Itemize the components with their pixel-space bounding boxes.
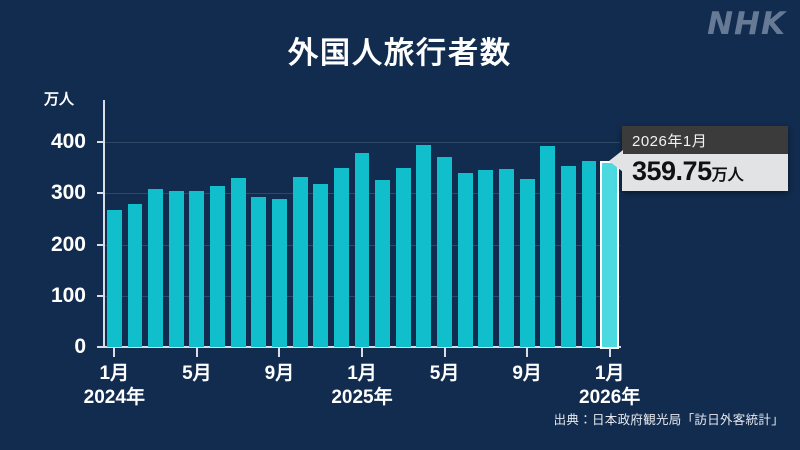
x-tick-label: 5月 <box>182 358 212 385</box>
bar[interactable] <box>520 179 535 347</box>
bar[interactable] <box>437 157 452 347</box>
x-tick-mark <box>113 348 115 357</box>
bar[interactable] <box>416 145 431 347</box>
bar[interactable] <box>107 210 122 347</box>
x-tick-mark <box>526 348 528 357</box>
x-tick-label: 1月 <box>100 358 130 385</box>
bar[interactable] <box>375 180 390 347</box>
bar-series <box>104 100 620 347</box>
bar[interactable] <box>272 199 287 347</box>
x-tick-year-label: 2024年 <box>84 382 145 409</box>
tooltip-arrow-icon <box>609 150 623 172</box>
y-axis-unit-label: 万人 <box>44 88 74 109</box>
x-tick-label: 1月 <box>595 358 625 385</box>
bar[interactable] <box>189 191 204 347</box>
bar[interactable] <box>148 189 163 347</box>
x-tick-label: 5月 <box>430 358 460 385</box>
tooltip-value-row: 359.75万人 <box>622 154 788 191</box>
y-tick-label: 300 <box>34 181 86 205</box>
page-title: 外国人旅行者数 <box>0 28 800 72</box>
y-tick-label: 0 <box>34 335 86 359</box>
bar[interactable] <box>169 191 184 347</box>
bar[interactable] <box>458 173 473 347</box>
x-tick-mark <box>444 348 446 357</box>
source-attribution: 出典：日本政府観光局「訪日外客統計」 <box>554 409 784 428</box>
x-tick-mark <box>361 348 363 357</box>
bar[interactable] <box>293 177 308 347</box>
x-tick-label: 9月 <box>265 358 295 385</box>
bar[interactable] <box>540 146 555 347</box>
tooltip-period: 2026年1月 <box>622 126 788 154</box>
bar[interactable] <box>210 186 225 347</box>
bar[interactable] <box>499 169 514 347</box>
tooltip-value: 359.75 <box>632 156 712 186</box>
x-tick-mark <box>609 348 611 357</box>
x-tick-year-label: 2026年 <box>579 382 640 409</box>
bar-highlighted[interactable] <box>602 163 617 347</box>
tooltip-unit: 万人 <box>712 167 744 184</box>
bar[interactable] <box>313 184 328 347</box>
bar[interactable] <box>582 161 597 347</box>
x-tick-mark <box>278 348 280 357</box>
bar[interactable] <box>231 178 246 347</box>
bar[interactable] <box>334 168 349 347</box>
bar[interactable] <box>478 170 493 347</box>
y-tick-label: 200 <box>34 233 86 257</box>
x-tick-label: 9月 <box>512 358 542 385</box>
bar[interactable] <box>561 166 576 347</box>
chart-canvas: NHK 外国人旅行者数 万人 0100200300400 1月2024年5月9月… <box>0 0 800 450</box>
y-tick-label: 100 <box>34 284 86 308</box>
bar[interactable] <box>396 168 411 347</box>
x-tick-year-label: 2025年 <box>331 382 392 409</box>
x-tick-label: 1月 <box>347 358 377 385</box>
value-tooltip[interactable]: 2026年1月 359.75万人 <box>622 126 788 191</box>
bar[interactable] <box>355 153 370 347</box>
bar[interactable] <box>128 204 143 347</box>
bar[interactable] <box>251 197 266 347</box>
x-tick-mark <box>196 348 198 357</box>
y-tick-label: 400 <box>34 130 86 154</box>
